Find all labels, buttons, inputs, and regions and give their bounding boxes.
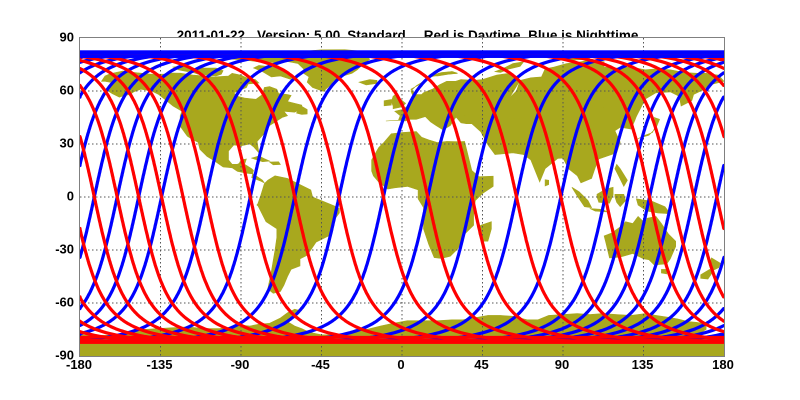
land-tasmania bbox=[661, 269, 666, 274]
land-india-sri bbox=[545, 180, 549, 186]
y-tick-0: 0 bbox=[67, 189, 74, 204]
y-tick-30: 30 bbox=[60, 136, 74, 151]
plot-area bbox=[79, 37, 725, 357]
y-tick-90: 90 bbox=[60, 30, 74, 45]
ground-track-map: 2011-01-22Version: 5.00StandardRed is Da… bbox=[0, 0, 800, 400]
y-tick--60: -60 bbox=[55, 295, 74, 310]
x-tick-90: 90 bbox=[555, 357, 569, 372]
y-axis-labels: 9060300-30-60-90 bbox=[0, 0, 74, 400]
y-tick-60: 60 bbox=[60, 83, 74, 98]
x-tick--90: -90 bbox=[231, 357, 250, 372]
x-tick-45: 45 bbox=[474, 357, 488, 372]
south-polar-band-2 bbox=[80, 336, 724, 339]
x-tick--135: -135 bbox=[146, 357, 172, 372]
north-polar-band bbox=[80, 50, 724, 55]
x-tick-135: 135 bbox=[632, 357, 654, 372]
y-tick--30: -30 bbox=[55, 242, 74, 257]
x-tick-0: 0 bbox=[397, 357, 404, 372]
south-polar-band bbox=[80, 339, 724, 344]
x-tick-180: 180 bbox=[712, 357, 734, 372]
north-polar-band-2 bbox=[80, 55, 724, 58]
land-ireland bbox=[384, 100, 391, 106]
x-tick--45: -45 bbox=[311, 357, 330, 372]
map-canvas bbox=[80, 38, 724, 356]
x-tick--180: -180 bbox=[66, 357, 92, 372]
